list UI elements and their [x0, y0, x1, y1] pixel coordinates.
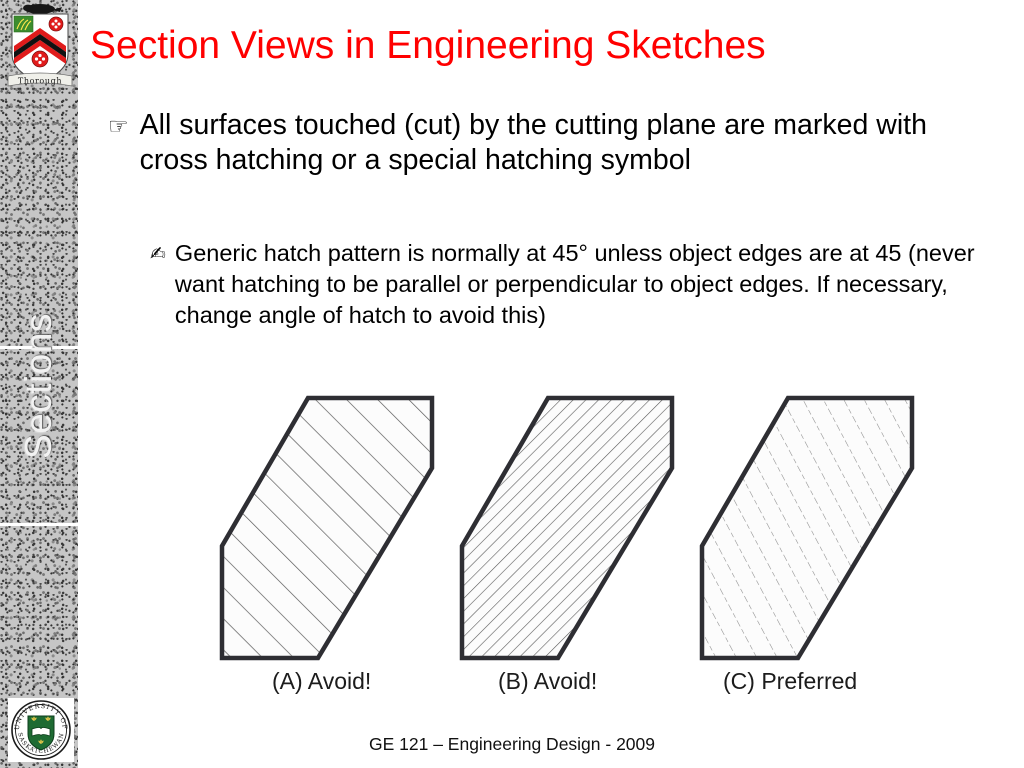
sidebar-texture-panel: [0, 0, 78, 768]
shape-b-hatch: [440, 378, 700, 698]
page-title: Section Views in Engineering Sketches: [90, 26, 1010, 67]
shape-c-group: [680, 378, 940, 698]
shape-b-group: [440, 378, 700, 698]
pointing-hand-bullet-icon: ☞: [108, 108, 129, 144]
hatching-examples-figure: [200, 378, 1000, 698]
writing-hand-bullet-icon: ✍: [150, 238, 166, 269]
bullet-level1: ☞ All surfaces touched (cut) by the cutt…: [108, 108, 1008, 178]
bullet-level1-text: All surfaces touched (cut) by the cuttin…: [140, 108, 930, 178]
bullet-level2-text: Generic hatch pattern is normally at 45°…: [175, 238, 1015, 331]
shape-a-group: [200, 378, 460, 698]
shape-a-hatch: [200, 378, 460, 698]
figure-caption-a: (A) Avoid!: [272, 668, 371, 695]
figure-caption-b: (B) Avoid!: [498, 668, 597, 695]
figure-caption-c: (C) Preferred: [723, 668, 857, 695]
bullet-level2: ✍ Generic hatch pattern is normally at 4…: [150, 238, 1024, 331]
svg-text:Thorough: Thorough: [18, 77, 62, 86]
slide-footer: GE 121 – Engineering Design - 2009: [0, 734, 1024, 755]
coat-of-arms-icon: Thorough: [6, 2, 74, 92]
sidebar-divider-2: [0, 523, 78, 526]
shape-c-hatch: [680, 378, 940, 698]
slide-canvas: Sections Thorough UNIVERSITY: [0, 0, 1024, 768]
sidebar-divider-1: [0, 346, 78, 349]
